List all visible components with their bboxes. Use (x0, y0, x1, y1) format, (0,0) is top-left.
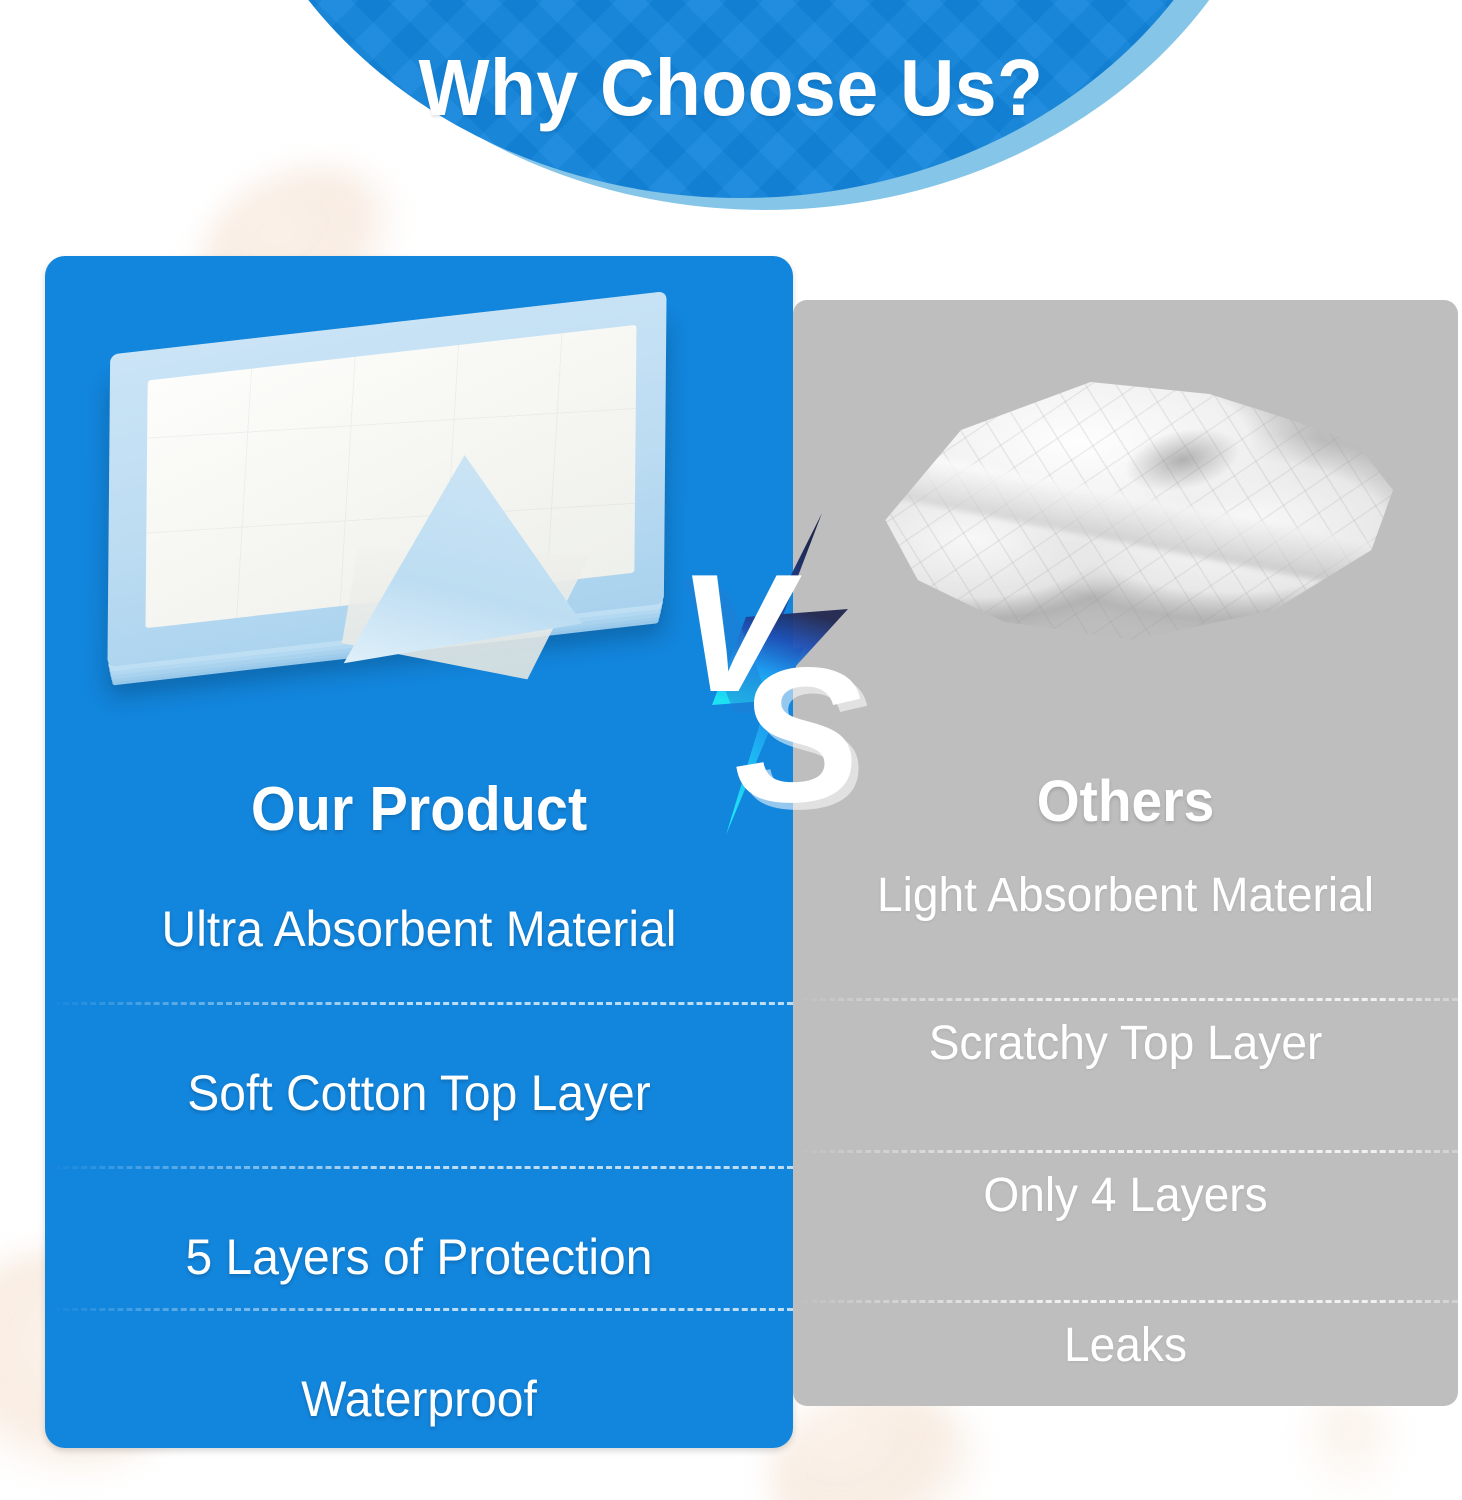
others-product-image (813, 322, 1433, 682)
our-divider-2 (45, 1166, 793, 1169)
page-title: Why Choose Us? (44, 0, 1418, 128)
vs-badge: V S S (672, 505, 882, 835)
others-feature-3: Only 4 Layers (806, 1172, 1444, 1220)
others-feature-1: Light Absorbent Material (806, 872, 1444, 920)
others-panel: Others Light Absorbent Material Scratchy… (793, 300, 1458, 1406)
our-divider-1 (45, 1002, 793, 1005)
our-feature-1: Ultra Absorbent Material (60, 904, 778, 954)
our-feature-3: 5 Layers of Protection (60, 1232, 778, 1282)
our-feature-4: Waterproof (60, 1374, 778, 1424)
others-divider-1 (793, 998, 1458, 1001)
background-product-blur-right (1290, 1395, 1410, 1500)
background-product-blur-bottom (770, 1390, 990, 1500)
crumpled-pad (853, 352, 1393, 652)
others-heading: Others (810, 773, 1442, 831)
vs-letter-s: S S (734, 627, 869, 849)
others-divider-3 (793, 1300, 1458, 1303)
our-product-heading: Our Product (71, 779, 767, 841)
others-feature-4: Leaks (806, 1322, 1444, 1370)
our-divider-3 (45, 1308, 793, 1311)
header-banner: Why Choose Us? (0, 0, 1462, 240)
our-feature-2: Soft Cotton Top Layer (60, 1068, 778, 1118)
others-divider-2 (793, 1150, 1458, 1153)
others-feature-2: Scratchy Top Layer (806, 1020, 1444, 1068)
our-product-image (67, 284, 767, 704)
our-product-panel: Our Product Ultra Absorbent Material Sof… (45, 256, 793, 1448)
svg-text:S: S (734, 627, 862, 842)
underpad-stack (107, 291, 666, 667)
